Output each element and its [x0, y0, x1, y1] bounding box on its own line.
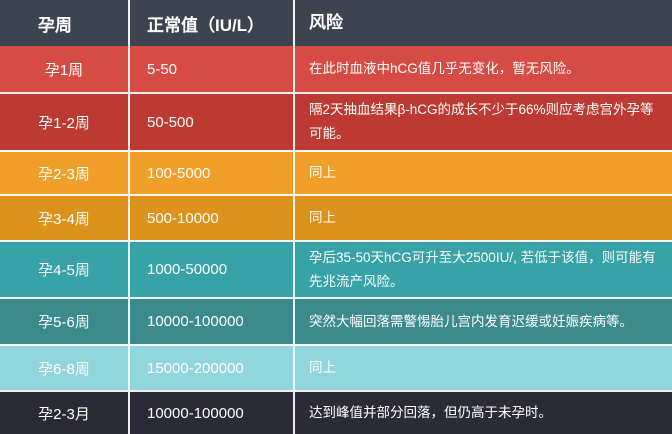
cell-normal-value: 10000-100000: [128, 299, 293, 344]
cell-risk: 孕后35-50天hCG可升至大2500IU/, 若低于该值，则可能有先兆流产风险…: [293, 242, 672, 297]
table-row: 孕1-2周 50-500 隔2天抽血结果β-hCG的成长不少于66%则应考虑宫外…: [0, 92, 672, 150]
cell-risk: 同上: [293, 346, 672, 390]
table-row: 孕2-3月 10000-100000 达到峰值并部分回落，但仍高于未孕时。: [0, 390, 672, 434]
cell-week: 孕5-6周: [0, 299, 128, 344]
hcg-reference-table: 孕周 正常值（IU/L） 风险 孕1周 5-50 在此时血液中hCG值几乎无变化…: [0, 0, 672, 434]
cell-week: 孕3-4周: [0, 196, 128, 240]
cell-risk: 达到峰值并部分回落，但仍高于未孕时。: [293, 392, 672, 434]
column-header-week: 孕周: [0, 0, 128, 46]
cell-normal-value: 50-500: [128, 94, 293, 150]
cell-risk: 隔2天抽血结果β-hCG的成长不少于66%则应考虑宫外孕等可能。: [293, 94, 672, 150]
cell-normal-value: 5-50: [128, 46, 293, 92]
cell-risk: 突然大幅回落需警惕胎儿宫内发育迟缓或妊娠疾病等。: [293, 299, 672, 344]
table-row: 孕3-4周 500-10000 同上: [0, 194, 672, 240]
cell-week: 孕2-3月: [0, 392, 128, 434]
cell-week: 孕1周: [0, 46, 128, 92]
column-header-risk: 风险: [293, 0, 672, 46]
table-row: 孕5-6周 10000-100000 突然大幅回落需警惕胎儿宫内发育迟缓或妊娠疾…: [0, 297, 672, 344]
table-row: 孕2-3周 100-5000 同上: [0, 150, 672, 194]
cell-normal-value: 15000-200000: [128, 346, 293, 390]
cell-risk: 同上: [293, 152, 672, 194]
cell-week: 孕1-2周: [0, 94, 128, 150]
column-header-normal-value: 正常值（IU/L）: [128, 0, 293, 46]
cell-normal-value: 500-10000: [128, 196, 293, 240]
table-header-row: 孕周 正常值（IU/L） 风险: [0, 0, 672, 46]
cell-risk: 同上: [293, 196, 672, 240]
table-row: 孕6-8周 15000-200000 同上: [0, 344, 672, 390]
cell-week: 孕4-5周: [0, 242, 128, 297]
cell-normal-value: 100-5000: [128, 152, 293, 194]
cell-week: 孕2-3周: [0, 152, 128, 194]
cell-risk: 在此时血液中hCG值几乎无变化，暂无风险。: [293, 46, 672, 92]
cell-normal-value: 1000-50000: [128, 242, 293, 297]
cell-normal-value: 10000-100000: [128, 392, 293, 434]
table-row: 孕1周 5-50 在此时血液中hCG值几乎无变化，暂无风险。: [0, 46, 672, 92]
cell-week: 孕6-8周: [0, 346, 128, 390]
table-row: 孕4-5周 1000-50000 孕后35-50天hCG可升至大2500IU/,…: [0, 240, 672, 297]
